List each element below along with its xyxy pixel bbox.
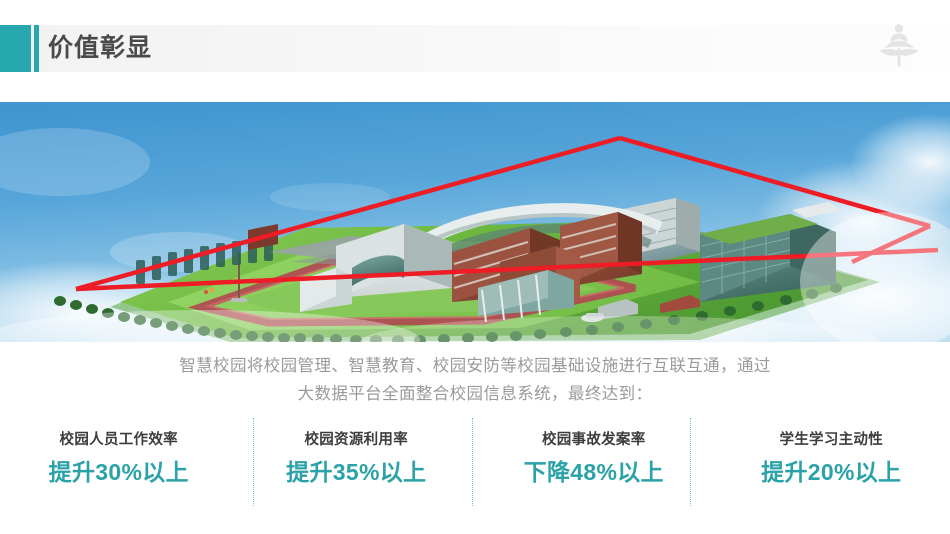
stat-card-4: 学生学习主动性 提升20%以上 xyxy=(713,418,950,508)
stat-label: 校园人员工作效率 xyxy=(0,418,238,450)
page-title: 价值彰显 xyxy=(48,28,152,68)
tree-emblem-logo-icon xyxy=(872,21,926,69)
stat-value: 提升35%以上 xyxy=(238,450,476,487)
stat-card-3: 校园事故发案率 下降48%以上 xyxy=(475,418,713,508)
stats-row: 校园人员工作效率 提升30%以上 校园资源利用率 提升35%以上 校园事故发案率… xyxy=(0,418,950,508)
stat-label: 学生学习主动性 xyxy=(713,418,950,450)
stat-value: 提升30%以上 xyxy=(0,450,238,487)
stat-label: 校园事故发案率 xyxy=(475,418,713,450)
stat-divider-2 xyxy=(472,418,473,506)
slide: 价值彰显 xyxy=(0,0,950,534)
campus-rendering-image xyxy=(0,102,950,342)
stat-card-2: 校园资源利用率 提升35%以上 xyxy=(238,418,476,508)
stat-label: 校园资源利用率 xyxy=(238,418,476,450)
stat-card-1: 校园人员工作效率 提升30%以上 xyxy=(0,418,238,508)
header-accent-bar xyxy=(34,25,39,72)
stat-divider-3 xyxy=(690,418,691,506)
stat-divider-1 xyxy=(253,418,254,506)
header-accent-block xyxy=(0,25,31,72)
stat-value: 提升20%以上 xyxy=(713,450,950,487)
description-paragraph: 智慧校园将校园管理、智慧教育、校园安防等校园基础设施进行互联互通，通过 大数据平… xyxy=(0,352,950,408)
description-line-1: 智慧校园将校园管理、智慧教育、校园安防等校园基础设施进行互联互通，通过 xyxy=(0,352,950,380)
description-line-2: 大数据平台全面整合校园信息系统，最终达到： xyxy=(0,380,950,408)
stat-value: 下降48%以上 xyxy=(475,450,713,487)
slide-header: 价值彰显 xyxy=(0,0,950,90)
